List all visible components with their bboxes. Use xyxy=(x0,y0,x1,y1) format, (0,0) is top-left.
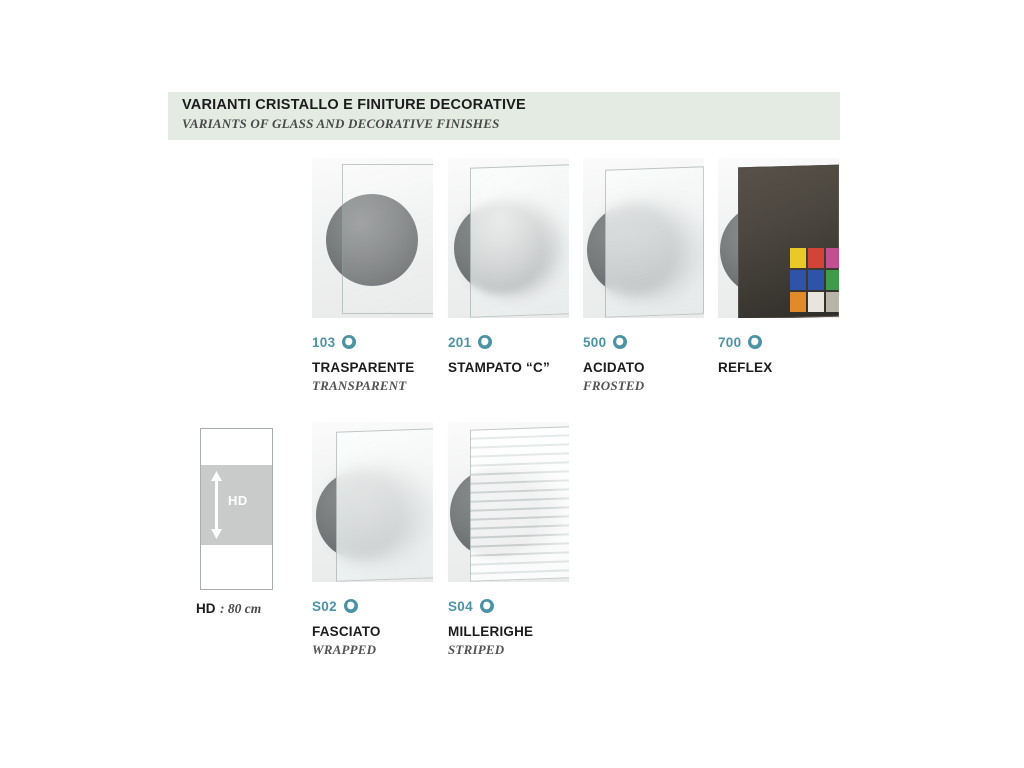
swatch-circle-icon xyxy=(612,334,628,350)
section-header-band: VARIANTI CRISTALLO E FINITURE DECORATIVE… xyxy=(168,92,840,140)
hd-inner-label: HD xyxy=(228,493,248,508)
sample-code: 103 xyxy=(312,335,335,350)
hd-height-diagram: HD xyxy=(200,428,273,590)
sample-image-201 xyxy=(448,158,569,318)
page-title: VARIANTI CRISTALLO E FINITURE DECORATIVE xyxy=(182,97,526,113)
sample-name-en: TRANSPARENT xyxy=(312,378,472,394)
swatch-red xyxy=(808,248,824,268)
glass-pane-frosted xyxy=(605,166,704,317)
swatch-circle-icon xyxy=(343,598,359,614)
swatch-magenta xyxy=(826,248,839,268)
page-subtitle: VARIANTS OF GLASS AND DECORATIVE FINISHE… xyxy=(182,116,500,132)
glass-pane-wrapped xyxy=(336,428,433,581)
sample-image-700 xyxy=(718,158,839,318)
code-row: S04 xyxy=(448,597,608,615)
swatch-blue xyxy=(790,270,806,290)
sample-meta-700: 700 REFLEX xyxy=(718,333,878,378)
sample-image-500 xyxy=(583,158,704,318)
swatch-orange xyxy=(790,292,806,312)
hd-double-arrow-icon xyxy=(210,471,223,539)
glass-pane-stamped-c xyxy=(470,164,569,318)
sample-name-en: FROSTED xyxy=(583,378,743,394)
swatch-green xyxy=(826,270,839,290)
swatch-circle-icon xyxy=(341,334,357,350)
sample-name-it: MILLERIGHE xyxy=(448,624,608,639)
swatch-white xyxy=(808,292,824,312)
sample-code: S02 xyxy=(312,599,337,614)
sample-name-it: REFLEX xyxy=(718,360,878,375)
swatch-circle-icon xyxy=(479,598,495,614)
sample-name-en: STRIPED xyxy=(448,642,608,658)
hd-caption-value: : 80 cm xyxy=(220,601,261,616)
sample-code: 700 xyxy=(718,335,741,350)
code-row: 700 xyxy=(718,333,878,351)
hd-caption-key: HD xyxy=(196,601,216,616)
sample-image-s02 xyxy=(312,422,433,582)
sample-image-103 xyxy=(312,158,433,318)
swatch-circle-icon xyxy=(477,334,493,350)
glass-pane-striped xyxy=(470,426,569,582)
sample-code: S04 xyxy=(448,599,473,614)
swatch-yellow xyxy=(790,248,806,268)
sample-code: 201 xyxy=(448,335,471,350)
color-checker-chart xyxy=(790,248,839,312)
swatch-gray xyxy=(826,292,839,312)
glass-pane-transparent xyxy=(342,164,433,314)
swatch-blue-2 xyxy=(808,270,824,290)
sample-code: 500 xyxy=(583,335,606,350)
swatch-circle-icon xyxy=(747,334,763,350)
sample-meta-s04: S04 MILLERIGHE STRIPED xyxy=(448,597,608,658)
sample-image-s04 xyxy=(448,422,569,582)
